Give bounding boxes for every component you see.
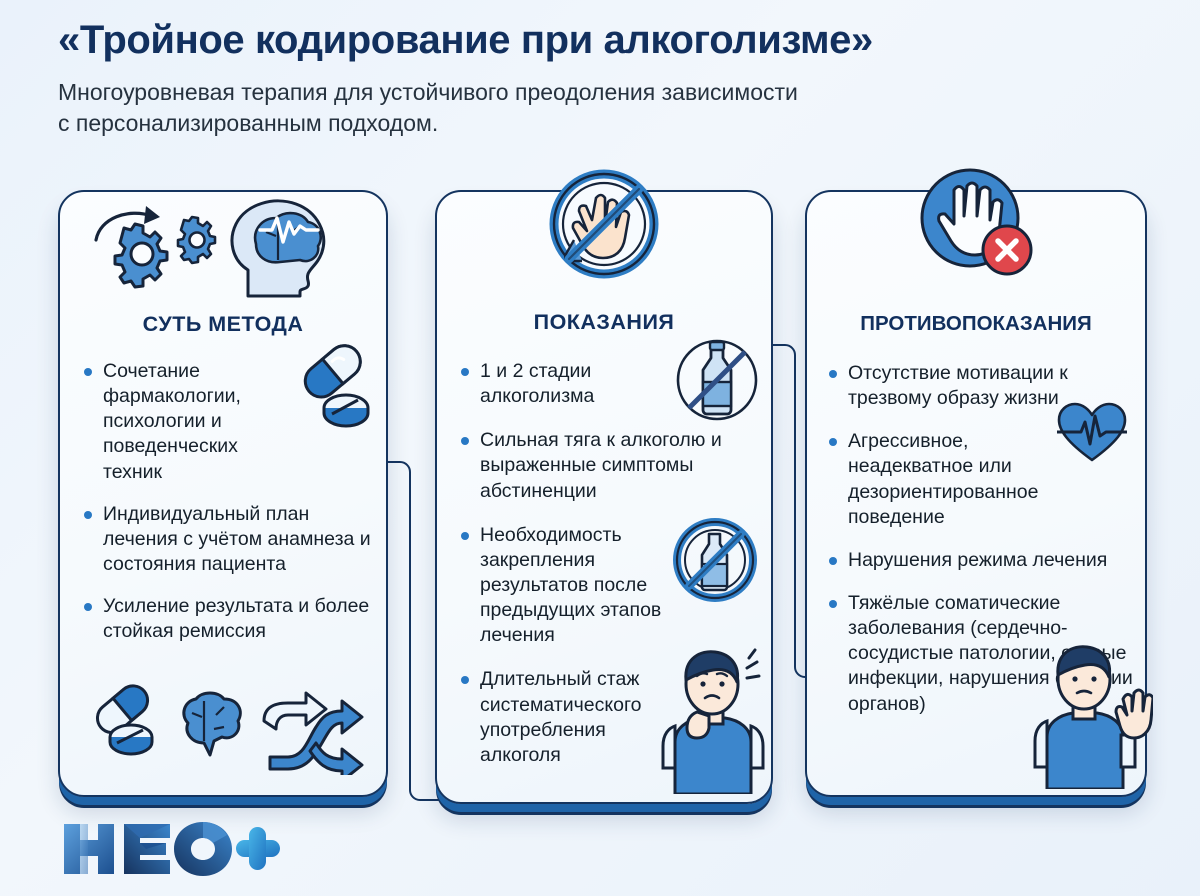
card-1-icon-group: [80, 196, 370, 309]
gear-large-icon: [115, 224, 167, 287]
card-2-title: ПОКАЗАНИЯ: [437, 310, 771, 335]
list-item: Усиление результата и более стойкая реми…: [82, 594, 372, 644]
stop-hand-prohibition-icon: [544, 164, 664, 284]
list-item: Сочетание фармакологии, психологии и пов…: [82, 359, 372, 485]
card-1-bottom-decor: [82, 675, 367, 775]
page-title: «Тройное кодирование при алкоголизме»: [58, 18, 1168, 63]
list-item: Агрессивное, неадекватное или дезориенти…: [827, 429, 1137, 530]
logo-mark: [60, 818, 280, 880]
list-item: Отсутствие мотивации к трезвому образу ж…: [827, 361, 1137, 411]
infographic-page: «Тройное кодирование при алкоголизме» Мн…: [0, 0, 1200, 896]
cards-row: СУТЬ МЕТОДА Сочетание фармакологии, псих…: [0, 190, 1200, 815]
pill-tablet-icon: [92, 680, 154, 754]
subtitle-line-2: с персонализированным подходом.: [58, 110, 438, 136]
card-3-header: [807, 192, 1145, 312]
gear-small-icon: [178, 217, 215, 263]
card-protivopokazaniya[interactable]: ПРОТИВОПОКАЗАНИЯ Отсутствие мотивации к …: [805, 190, 1147, 797]
card-pokazaniya[interactable]: ПОКАЗАНИЯ 1 и 2 стадии алкоголизма Сильн…: [435, 190, 773, 804]
list-item: Тяжёлые соматические заболевания (сердеч…: [827, 591, 1137, 717]
neo-plus-logo[interactable]: НЕО+: [60, 818, 280, 885]
page-subtitle: Многоуровневая терапия для устойчивого п…: [58, 77, 1168, 140]
card-1-header: [60, 192, 386, 312]
card-2-header: [437, 192, 771, 312]
header: «Тройное кодирование при алкоголизме» Мн…: [58, 18, 1168, 139]
list-item: Нарушения режима лечения: [827, 548, 1137, 573]
card-sut-metoda[interactable]: СУТЬ МЕТОДА Сочетание фармакологии, псих…: [58, 190, 388, 797]
list-item: Длительный стаж систематического употреб…: [459, 667, 761, 768]
head-profile-icon: [232, 201, 324, 296]
list-item: Сильная тяга к алкоголю и выраженные сим…: [459, 428, 761, 503]
card-1-title: СУТЬ МЕТОДА: [60, 312, 386, 337]
brain-icon: [184, 693, 240, 755]
shuffle-arrows-icon: [264, 693, 362, 775]
hand-stop-red-x-icon: [914, 162, 1038, 284]
card-3-icon-group: [914, 162, 1038, 289]
card-3-bullets: Отсутствие мотивации к трезвому образу ж…: [807, 361, 1145, 717]
list-item: 1 и 2 стадии алкоголизма: [459, 359, 761, 409]
list-item: Необходимость закрепления результатов по…: [459, 523, 761, 649]
subtitle-line-1: Многоуровневая терапия для устойчивого п…: [58, 79, 798, 105]
card-2-icon-group: [544, 164, 664, 289]
card-2-bullets: 1 и 2 стадии алкоголизма Сильная тяга к …: [437, 359, 771, 768]
card-1-bullets: Сочетание фармакологии, психологии и пов…: [60, 359, 386, 644]
card-3-title: ПРОТИВОПОКАЗАНИЯ: [807, 312, 1145, 336]
list-item: Индивидуальный план лечения с учётом ана…: [82, 502, 372, 577]
gears-head-brain-icon: [80, 196, 370, 304]
